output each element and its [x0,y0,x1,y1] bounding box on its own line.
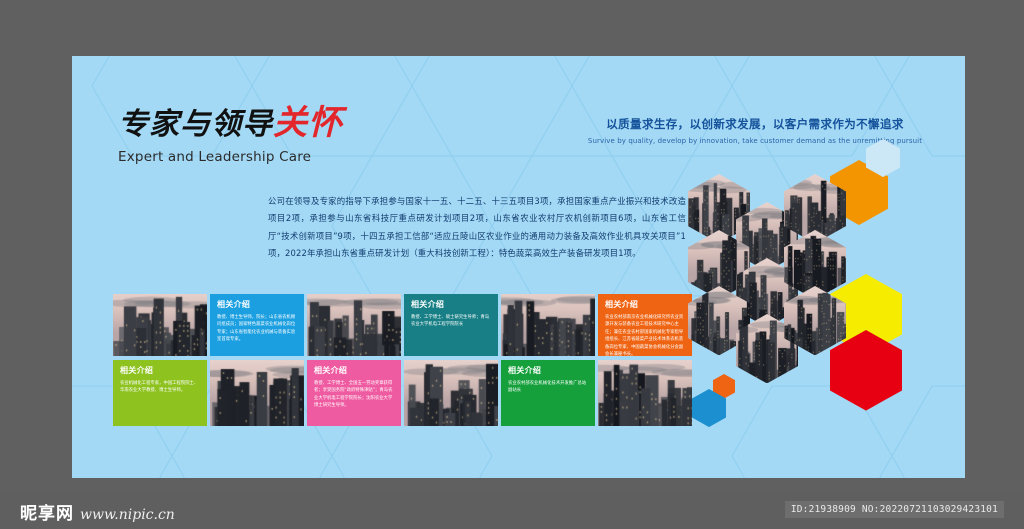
info-card-title: 相关介绍 [605,299,686,310]
slogan-chinese: 以质量求生存，以创新求发展，以客户需求作为不懈追求 [585,116,925,132]
info-card-title: 相关介绍 [217,299,298,310]
card-photo-2-4[interactable] [404,360,498,426]
card-photo-1-3[interactable] [307,294,401,356]
card-photo-2-2[interactable] [210,360,304,426]
info-card-title: 相关介绍 [508,365,589,376]
title-chinese-red: 关怀 [273,103,343,143]
info-card-body: 农业机械化工程专家，中国工程院院士、华南农业大学教授、博士生导师。 [120,380,201,395]
info-card-body: 农业农村部农业机械化技术开发推广总站副站长 [508,380,589,395]
info-card-1-6[interactable]: 相关介绍农业农村部南京农业机械化研究所农业资源开发与装备农业工程技术研究中心主任… [598,294,692,356]
info-card-2-5[interactable]: 相关介绍农业农村部农业机械化技术开发推广总站副站长 [501,360,595,426]
page-title-block: 专家与领导关怀 Expert and Leadership Care [118,106,448,165]
hexagon-cluster [680,134,965,464]
brand-url: www.nipic.cn [80,507,175,523]
title-chinese-black: 专家与领导 [118,107,273,142]
info-card-title: 相关介绍 [411,299,492,310]
hex-pale-small [866,139,900,177]
info-card-title: 相关介绍 [314,365,395,376]
poster-canvas: 专家与领导关怀 Expert and Leadership Care 以质量求生… [72,56,965,478]
info-card-body: 农业农村部南京农业机械化研究所农业资源开发与装备农业工程技术研究中心主任；兼任农… [605,314,686,356]
screenshot-root: 专家与领导关怀 Expert and Leadership Care 以质量求生… [0,0,1024,529]
title-chinese: 专家与领导关怀 [118,106,448,142]
asset-id-badge: ID:21938909 NO:20220721103029423101 [785,501,1004,518]
card-row-2: 相关介绍农业机械化工程专家，中国工程院院士、华南农业大学教授、博士生导师。相关介… [113,360,695,426]
info-card-2-1[interactable]: 相关介绍农业机械化工程专家，中国工程院院士、华南农业大学教授、博士生导师。 [113,360,207,426]
hex-blue-small [692,389,726,427]
info-card-title: 相关介绍 [120,365,201,376]
info-card-2-3[interactable]: 相关介绍教授、工学博士、全国五一劳动奖章获得者；享受国务院“政府特殊津贴”；青岛… [307,360,401,426]
info-card-1-4[interactable]: 相关介绍教授、工学博士、硕士研究生导师；青岛农业大学机电工程学院院长 [404,294,498,356]
card-photo-1-1[interactable] [113,294,207,356]
info-card-body: 教授、工学博士、硕士研究生导师；青岛农业大学机电工程学院院长 [411,314,492,329]
info-card-body: 教授、博士生导师，院长；山东省农机顾问组成员；国家特色蔬菜农业机械化岗位专家；山… [217,314,298,344]
site-footer: 昵享网 www.nipic.cn ID:21938909 NO:20220721… [0,490,1024,529]
brand-name-chinese: 昵享网 [20,499,74,524]
card-grid: 相关介绍教授、博士生导师，院长；山东省农机顾问组成员；国家特色蔬菜农业机械化岗位… [113,294,695,430]
site-brand[interactable]: 昵享网 www.nipic.cn [20,499,175,524]
body-paragraph: 公司在领导及专家的指导下承担参与国家十一五、十二五、十三五项目3项，承担国家重点… [268,193,686,263]
hex-photo-9 [784,286,846,355]
info-card-1-2[interactable]: 相关介绍教授、博士生导师，院长；山东省农机顾问组成员；国家特色蔬菜农业机械化岗位… [210,294,304,356]
card-photo-1-5[interactable] [501,294,595,356]
card-photo-2-6[interactable] [598,360,692,426]
info-card-body: 教授、工学博士、全国五一劳动奖章获得者；享受国务院“政府特殊津贴”；青岛农业大学… [314,380,395,410]
title-english: Expert and Leadership Care [118,149,448,165]
card-row-1: 相关介绍教授、博士生导师，院长；山东省农机顾问组成员；国家特色蔬菜农业机械化岗位… [113,294,695,356]
